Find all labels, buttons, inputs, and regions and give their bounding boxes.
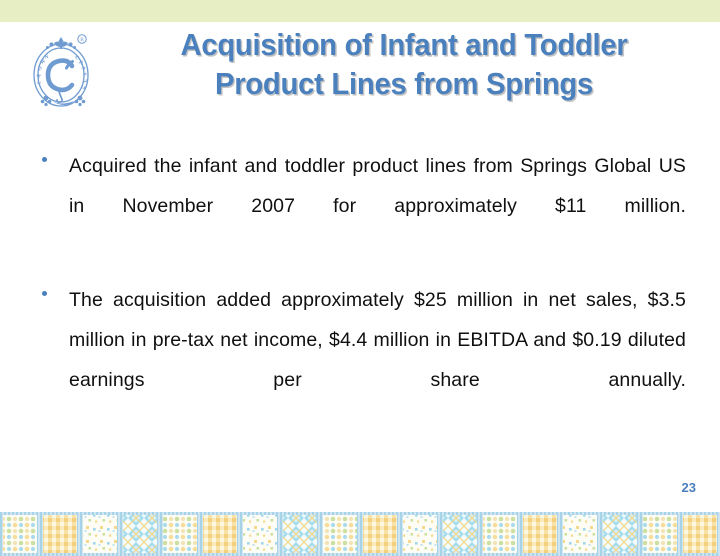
slide-header: C R O W N C R A F T S [0,22,720,134]
quilt-patch-border [0,510,720,556]
svg-text:R: R [36,73,43,79]
list-item: Acquired the infant and toddler product … [0,146,720,266]
svg-text:N: N [44,54,50,61]
page-number: 23 [682,480,696,495]
page-title-line-2: Product Lines from Springs [116,65,692,104]
page-title-line-1: Acquisition of Infant and Toddler [116,26,692,65]
svg-text:C: C [36,80,43,86]
slide-body: Acquired the infant and toddler product … [0,146,720,454]
list-item-text: Acquired the infant and toddler product … [69,146,686,266]
list-item-text: The acquisition added approximately $25 … [69,280,686,440]
list-item: The acquisition added approximately $25 … [0,280,720,440]
top-accent-band [0,0,720,22]
svg-text:R: R [80,37,84,43]
bullet-dot-icon [42,146,69,162]
bullet-dot-icon [42,280,69,296]
quilt-patch-row [0,512,720,556]
page-title: Acquisition of Infant and Toddler Produc… [116,26,692,104]
crown-crafts-logo: C R O W N C R A F T S [24,30,102,114]
